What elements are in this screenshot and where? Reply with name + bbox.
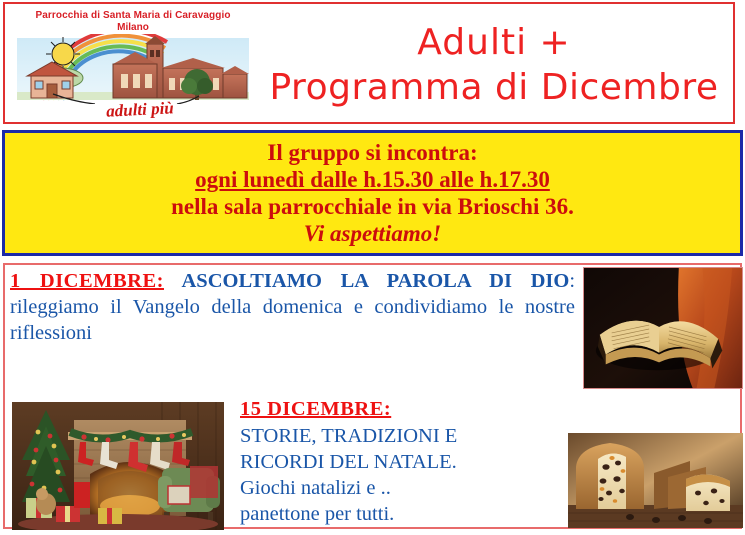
meeting-notice-box: Il gruppo si incontra: ogni lunedì dalle… — [2, 130, 743, 256]
header-band: Parrocchia di Santa Maria di Caravaggio … — [0, 0, 745, 128]
event-1-date: 1 DICEMBRE: — [10, 270, 164, 292]
page-title-line1: Adulti + — [417, 21, 570, 65]
notice-line-1: Il gruppo si incontra: — [267, 139, 477, 166]
notice-line-2: ogni lunedì dalle h.15.30 alle h.17.30 — [195, 166, 550, 193]
panettone-photo — [568, 433, 743, 528]
header-frame: Parrocchia di Santa Maria di Caravaggio … — [3, 2, 735, 124]
events-frame: 1 DICEMBRE: ASCOLTIAMO LA PAROLA DI DIO:… — [3, 263, 742, 529]
event-2-headline-line2: RICORDI DEL NATALE. — [240, 449, 570, 475]
event-2-headline-line1: STORIE, TRADIZIONI E — [240, 423, 570, 449]
parish-logo: Parrocchia di Santa Maria di Caravaggio … — [13, 8, 253, 126]
poster-root: Parrocchia di Santa Maria di Caravaggio … — [0, 0, 745, 535]
parish-name-line1: Parrocchia di Santa Maria di Caravaggio — [13, 10, 253, 22]
notice-line-3: nella sala parrocchiale in via Brioschi … — [171, 193, 574, 220]
poster-title: Adulti + Programma di Dicembre — [255, 8, 733, 124]
event-2-date: 15 DICEMBRE: — [240, 396, 570, 422]
christmas-fireplace-photo — [12, 402, 224, 530]
event-2-body-line1: Giochi natalizi e .. — [240, 475, 570, 501]
event-1-headline: ASCOLTIAMO LA PAROLA DI DIO — [164, 270, 569, 292]
parish-church-rainbow-illustration — [17, 34, 249, 104]
page-title-line2: Programma di Dicembre — [269, 65, 718, 111]
notice-line-4: Vi aspettiamo! — [304, 220, 441, 247]
event-1-text: 1 DICEMBRE: ASCOLTIAMO LA PAROLA DI DIO:… — [10, 268, 575, 346]
open-bible-photo — [583, 267, 743, 389]
event-2-body-line2: panettone per tutti. — [240, 501, 570, 527]
parish-name-line2: Milano — [13, 22, 253, 34]
event-2-text: 15 DICEMBRE: STORIE, TRADIZIONI E RICORD… — [240, 396, 570, 527]
